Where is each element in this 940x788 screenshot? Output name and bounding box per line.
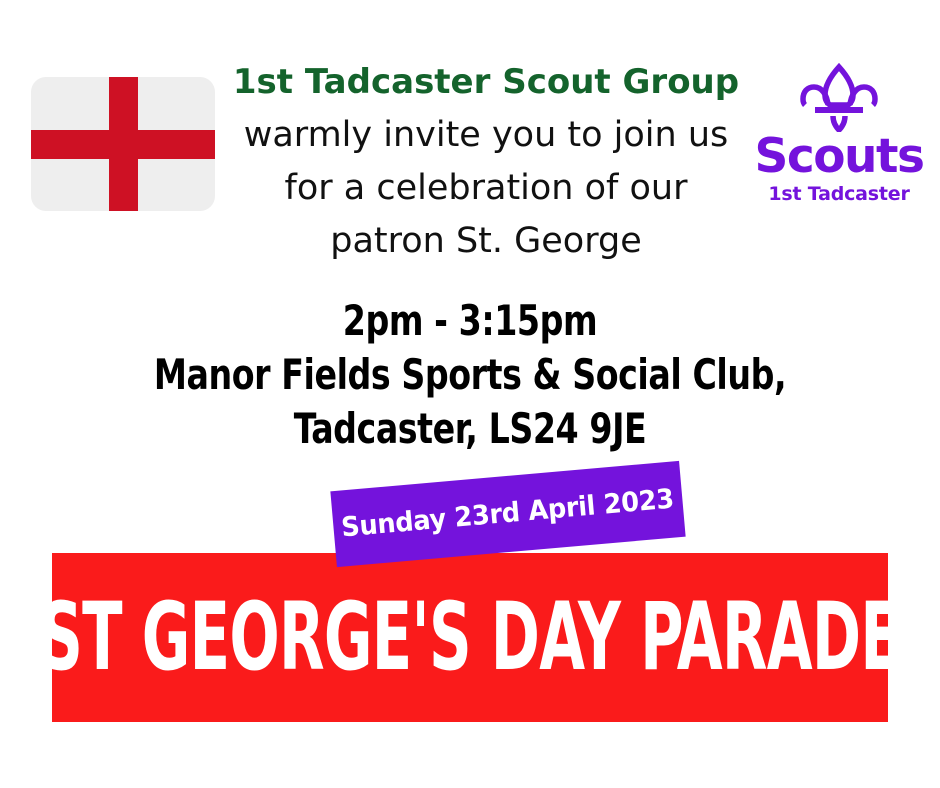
invitation-line-2: for a celebration of our <box>228 162 744 215</box>
invitation-line-3: patron St. George <box>228 215 744 268</box>
organisation-name: 1st Tadcaster Scout Group <box>228 56 744 109</box>
event-venue: Manor Fields Sports & Social Club, <box>118 348 822 402</box>
event-date: Sunday 23rd April 2023 <box>340 485 675 544</box>
event-address: Tadcaster, LS24 9JE <box>118 402 822 456</box>
parade-title-banner: ST GEORGE'S DAY PARADE <box>52 553 888 722</box>
parade-title: ST GEORGE'S DAY PARADE <box>52 591 888 685</box>
event-date-banner: Sunday 23rd April 2023 <box>330 461 685 567</box>
scouts-logo: Scouts 1st Tadcaster <box>748 62 930 224</box>
scouts-group-name: 1st Tadcaster <box>748 182 930 206</box>
invitation-text-block: 1st Tadcaster Scout Group warmly invite … <box>228 56 744 268</box>
flag-cross-vertical-bar <box>109 77 138 211</box>
event-details-block: 2pm - 3:15pm Manor Fields Sports & Socia… <box>70 294 870 456</box>
invitation-line-1: warmly invite you to join us <box>228 109 744 162</box>
fleur-de-lis-icon <box>748 62 930 132</box>
poster-canvas: 1st Tadcaster Scout Group warmly invite … <box>0 0 940 788</box>
event-time: 2pm - 3:15pm <box>118 294 822 348</box>
england-flag-icon <box>31 77 215 211</box>
scouts-wordmark: Scouts <box>748 132 930 182</box>
